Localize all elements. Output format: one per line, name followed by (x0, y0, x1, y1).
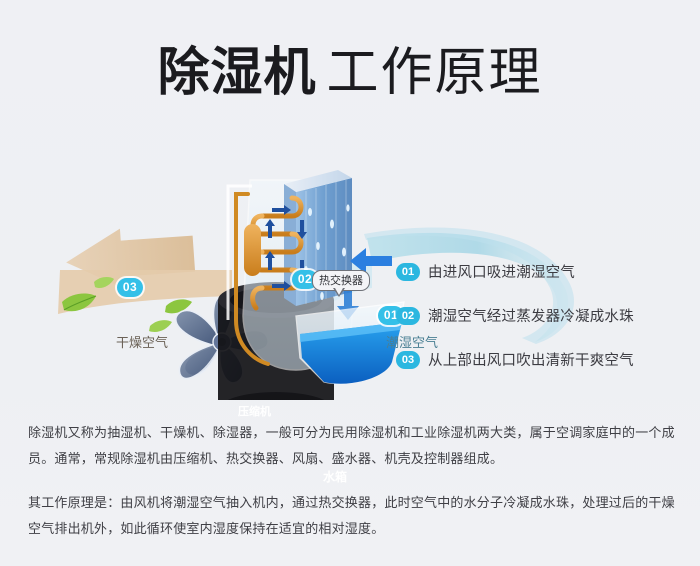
legend-text-02: 潮湿空气经过蒸发器冷凝成水珠 (428, 305, 634, 326)
page-title-light: 工作原理 (327, 44, 543, 102)
label-compressor: 压缩机 (238, 403, 271, 419)
legend-badge-02: 02 (396, 307, 420, 325)
legend-item-01: 01 由进风口吸进潮湿空气 (396, 255, 676, 288)
infographic-page: 除湿机工作原理 (0, 0, 700, 566)
legend-badge-03: 03 (396, 351, 420, 369)
legend-text-03: 从上部出风口吹出清新干爽空气 (428, 349, 634, 370)
legend-list: 01 由进风口吸进潮湿空气 02 潮湿空气经过蒸发器冷凝成水珠 03 从上部出风… (396, 255, 676, 387)
label-dry-air: 干燥空气 (116, 332, 168, 351)
diagram-badge-03: 03 (117, 278, 143, 297)
coil-accumulator (244, 224, 261, 276)
legend-badge-01: 01 (396, 263, 420, 281)
legend-item-03: 03 从上部出风口吹出清新干爽空气 (396, 343, 676, 376)
description-block: 除湿机又称为抽湿机、干燥机、除湿器，一般可分为民用除湿机和工业除湿机两大类，属于… (28, 420, 676, 542)
page-title-strong: 除湿机 (157, 44, 316, 102)
description-paragraph-1: 除湿机又称为抽湿机、干燥机、除湿器，一般可分为民用除湿机和工业除湿机两大类，属于… (28, 420, 676, 472)
callout-pointer-icon (333, 288, 345, 297)
legend-text-01: 由进风口吸进潮湿空气 (428, 261, 575, 282)
description-paragraph-2: 其工作原理是：由风机将潮湿空气抽入机内，通过热交换器，此时空气中的水分子冷凝成水… (28, 490, 676, 542)
legend-item-02: 02 潮湿空气经过蒸发器冷凝成水珠 (396, 299, 676, 332)
page-title: 除湿机工作原理 (0, 30, 700, 105)
